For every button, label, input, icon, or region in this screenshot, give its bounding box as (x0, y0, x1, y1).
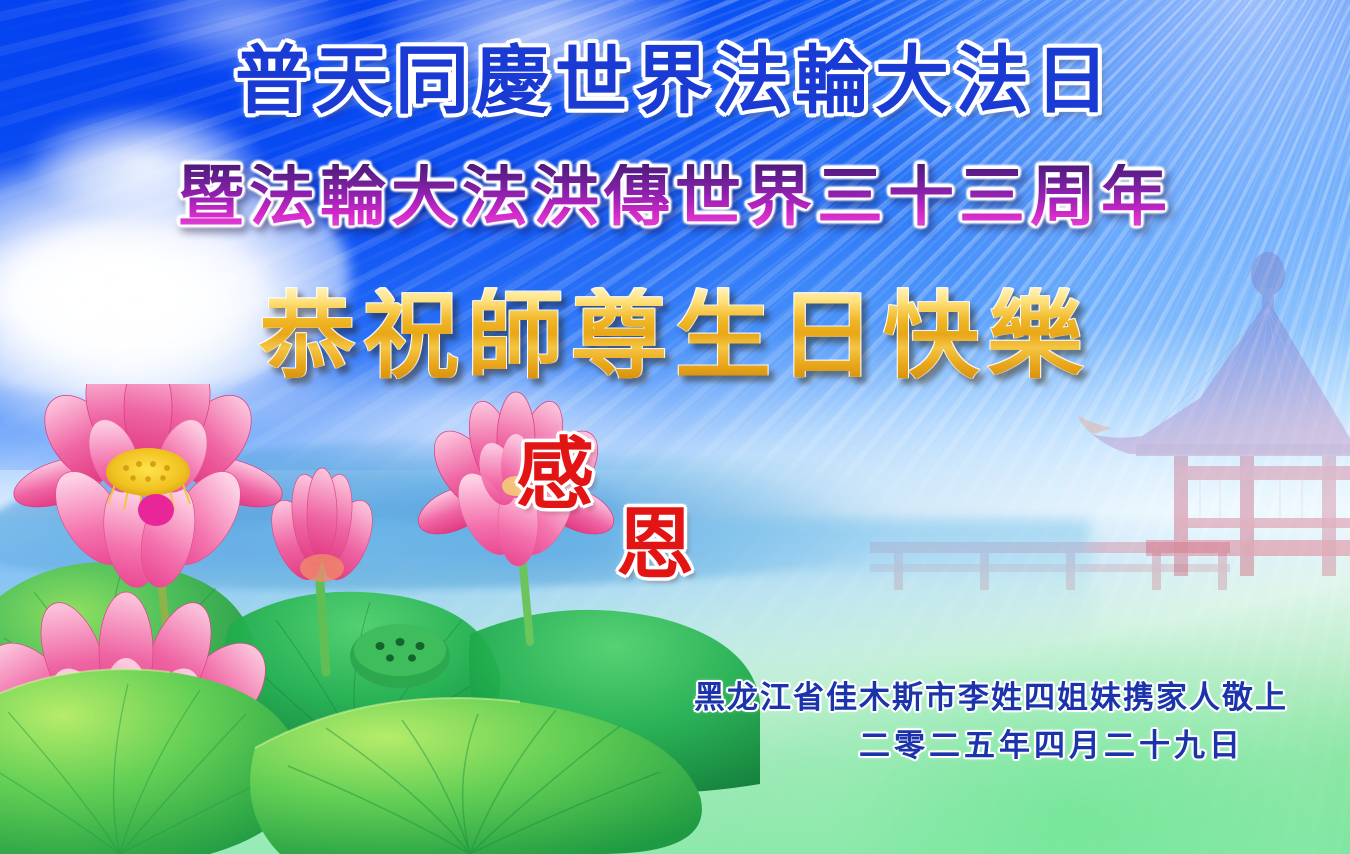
gratitude-char-1: 感 (516, 436, 594, 514)
gratitude-char-2: 恩 (616, 506, 694, 584)
headline-birthday-wish: 恭祝師尊生日快樂 (0, 288, 1350, 384)
headline-anniversary: 暨法輪大法洪傳世界三十三周年 (0, 164, 1350, 230)
signature-sender: 黑龙江省佳木斯市李姓四姐妹携家人敬上 (694, 672, 1288, 717)
gratitude-block: 感 恩 (0, 430, 1350, 600)
headline-primary: 普天同慶世界法輪大法日 (0, 44, 1350, 118)
greeting-card: 普天同慶世界法輪大法日 暨法輪大法洪傳世界三十三周年 恭祝師尊生日快樂 感 恩 … (0, 0, 1350, 854)
signature-date: 二零二五年四月二十九日 (859, 720, 1244, 765)
